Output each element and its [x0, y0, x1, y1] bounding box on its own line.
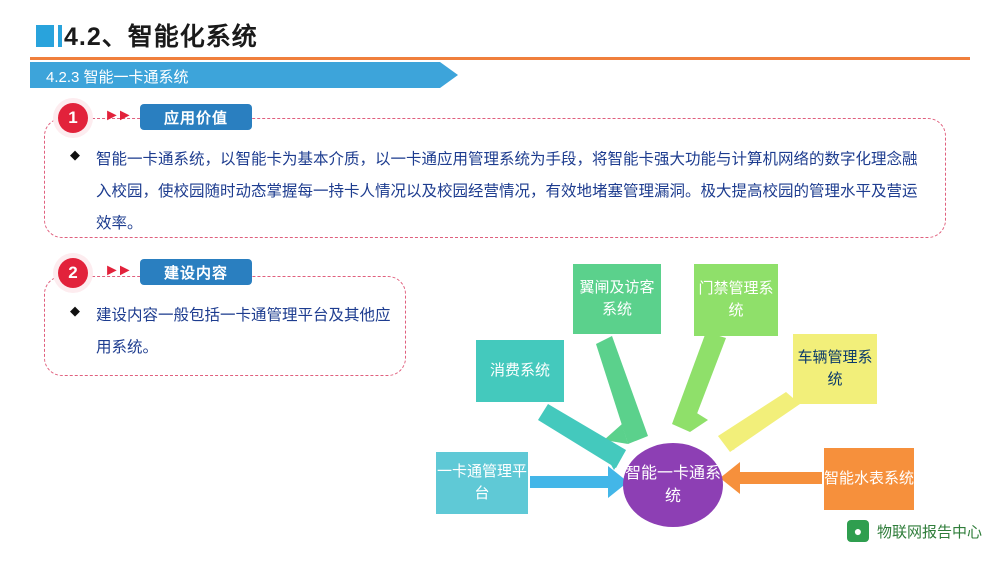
page-header: 4.2、智能化系统 — [0, 0, 1000, 60]
chevron-right-icon: ►► — [104, 107, 130, 125]
section-1-number: 1 — [58, 103, 88, 133]
header-square-icon — [36, 25, 54, 47]
diagram-node-platform: 一卡通管理平台 — [436, 452, 528, 514]
section-1-text: 智能一卡通系统，以智能卡为基本介质，以一卡通应用管理系统为手段，将智能卡强大功能… — [96, 144, 928, 240]
section-2-number: 2 — [58, 258, 88, 288]
subtitle-ribbon-arrow — [440, 62, 458, 88]
section-2-text: 建设内容一般包括一卡通管理平台及其他应用系统。 — [96, 300, 396, 364]
watermark-text: 物联网报告中心 — [877, 521, 982, 542]
page-title: 4.2、智能化系统 — [64, 17, 258, 53]
header-divider — [30, 57, 970, 60]
diagram-node-access-control: 门禁管理系统 — [694, 264, 778, 336]
header-logo-marks — [36, 25, 62, 47]
diagram-node-vehicle: 车辆管理系统 — [793, 334, 877, 404]
section-2-tag: 建设内容 — [140, 259, 252, 285]
diagram-node-wing-gate: 翼闸及访客系统 — [573, 264, 661, 334]
wechat-icon: ● — [847, 520, 869, 542]
chevron-right-icon: ►► — [104, 262, 130, 280]
watermark: ● 物联网报告中心 — [847, 520, 982, 542]
section-1-tag: 应用价值 — [140, 104, 252, 130]
diagram-node-consumption: 消费系统 — [476, 340, 564, 402]
diagram-node-center: 智能一卡通系统 — [623, 443, 723, 527]
section-2-bullet-icon: ◆ — [70, 303, 80, 319]
diagram-node-water-meter: 智能水表系统 — [824, 448, 914, 510]
header-bar-icon — [58, 25, 62, 47]
section-1-bullet-icon: ◆ — [70, 147, 80, 163]
subtitle-text: 4.2.3 智能一卡通系统 — [46, 66, 189, 87]
